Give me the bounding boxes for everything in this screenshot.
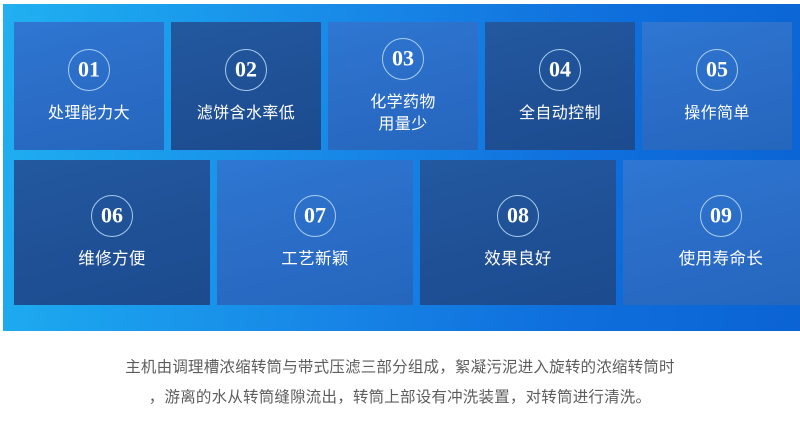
feature-label: 维修方便 [78,248,146,270]
feature-number: 05 [706,58,728,80]
number-circle-icon: 01 [68,49,110,91]
feature-card-08[interactable]: 08效果良好 [420,160,616,305]
feature-card-03[interactable]: 03化学药物 用量少 [328,22,478,150]
feature-label: 滤饼含水率低 [197,102,295,123]
feature-number: 01 [78,58,100,80]
feature-label: 操作简单 [684,102,750,123]
feature-panel: 01处理能力大02滤饼含水率低03化学药物 用量少04全自动控制05操作简单 0… [3,4,800,331]
feature-number: 06 [101,205,123,227]
caption-line-2: ，游离的水从转筒缝隙流出，转筒上部设有冲洗装置，对转筒进行清洗。 [0,382,800,412]
number-circle-icon: 09 [700,195,742,237]
feature-label: 处理能力大 [48,102,130,123]
feature-card-01[interactable]: 01处理能力大 [14,22,164,150]
feature-number: 03 [392,48,414,70]
number-circle-icon: 02 [225,49,267,91]
features-row-2: 06维修方便07工艺新颖08效果良好09使用寿命长 [14,160,800,305]
number-circle-icon: 03 [382,38,424,80]
feature-number: 09 [710,205,732,227]
feature-number: 04 [549,58,571,80]
feature-card-07[interactable]: 07工艺新颖 [217,160,413,305]
feature-label: 使用寿命长 [679,248,764,270]
feature-number: 08 [507,205,529,227]
caption-line-1: 主机由调理槽浓缩转筒与带式压滤三部分组成，絮凝污泥进入旋转的浓缩转筒时 [0,352,800,382]
feature-label: 工艺新颖 [281,248,349,270]
number-circle-icon: 06 [91,195,133,237]
feature-label: 化学药物 用量少 [370,91,436,133]
page-root: 01处理能力大02滤饼含水率低03化学药物 用量少04全自动控制05操作简单 0… [0,0,800,426]
feature-number: 07 [304,205,326,227]
feature-card-04[interactable]: 04全自动控制 [485,22,635,150]
feature-number: 02 [235,58,257,80]
feature-card-06[interactable]: 06维修方便 [14,160,210,305]
feature-label: 全自动控制 [519,102,601,123]
number-circle-icon: 04 [539,49,581,91]
caption-block: 主机由调理槽浓缩转筒与带式压滤三部分组成，絮凝污泥进入旋转的浓缩转筒时 ，游离的… [0,352,800,412]
feature-card-02[interactable]: 02滤饼含水率低 [171,22,321,150]
number-circle-icon: 05 [696,49,738,91]
feature-label: 效果良好 [484,248,552,270]
number-circle-icon: 07 [294,195,336,237]
features-row-1: 01处理能力大02滤饼含水率低03化学药物 用量少04全自动控制05操作简单 [14,22,800,150]
feature-card-09[interactable]: 09使用寿命长 [623,160,800,305]
feature-card-05[interactable]: 05操作简单 [642,22,792,150]
number-circle-icon: 08 [497,195,539,237]
